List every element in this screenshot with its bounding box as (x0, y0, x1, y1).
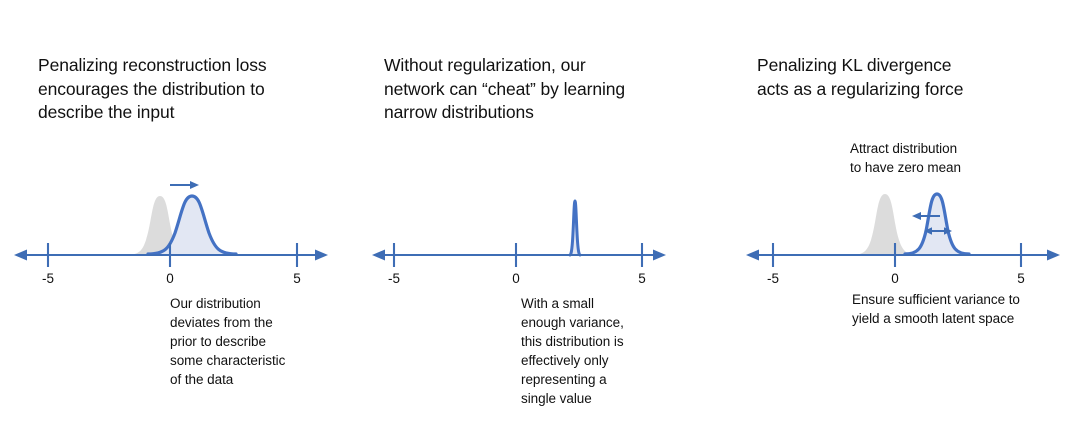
plot-kl-divergence (740, 0, 1088, 446)
tick-label--5: -5 (386, 271, 402, 286)
tick-label--5: -5 (765, 271, 781, 286)
panel-no-regularization: Without regularization, our network can … (370, 0, 740, 446)
tick-label-0: 0 (509, 271, 523, 286)
panel-caption: Our distribution deviates from the prior… (170, 294, 320, 389)
blue-posterior-fill (905, 195, 969, 255)
panel-caption: With a small enough variance, this distr… (521, 294, 661, 408)
panel-reconstruction-loss: Penalizing reconstruction loss encourage… (0, 0, 370, 446)
panel-kl-divergence: Penalizing KL divergence acts as a regul… (740, 0, 1088, 446)
gray-prior-curve (850, 194, 920, 255)
tick-label-5: 5 (635, 271, 649, 286)
tick-label-0: 0 (888, 271, 902, 286)
tick-label--5: -5 (40, 271, 56, 286)
number-line-axis (746, 243, 1060, 267)
right-arrow-icon (170, 181, 199, 189)
number-line-axis (14, 243, 328, 267)
tick-label-5: 5 (1014, 271, 1028, 286)
panel-caption: Ensure sufficient variance to yield a sm… (852, 290, 1082, 328)
figure-root: Penalizing reconstruction loss encourage… (0, 0, 1088, 446)
tick-label-5: 5 (290, 271, 304, 286)
tick-label-0: 0 (163, 271, 177, 286)
number-line-axis (372, 243, 666, 267)
